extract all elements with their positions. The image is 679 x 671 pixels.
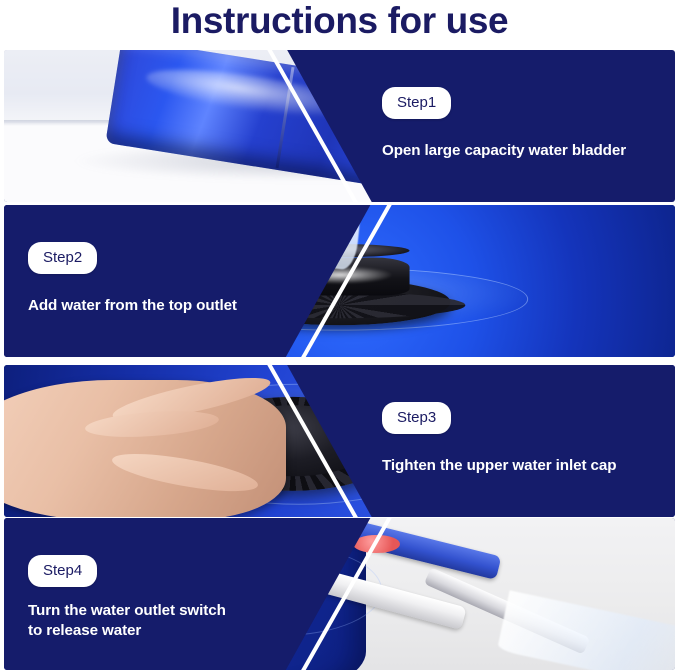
- step4-text-block: Step4 Turn the water outlet switch to re…: [28, 518, 318, 670]
- step3-caption: Tighten the upper water inlet cap: [382, 456, 616, 476]
- step2-text-block: Step2 Add water from the top outlet: [28, 205, 318, 357]
- instructions-infographic: Instructions for use Step1 Open large ca…: [0, 0, 679, 671]
- step1-text-block: Step1 Open large capacity water bladder: [382, 50, 662, 202]
- step-row-4: Step4 Turn the water outlet switch to re…: [4, 518, 675, 670]
- step3-text-block: Step3 Tighten the upper water inlet cap: [382, 365, 662, 517]
- step4-caption-line2: to release water: [28, 621, 226, 641]
- step-row-1: Step1 Open large capacity water bladder: [4, 50, 675, 202]
- step2-badge: Step2: [28, 242, 97, 274]
- step-row-3: Step3 Tighten the upper water inlet cap: [4, 365, 675, 517]
- step4-badge: Step4: [28, 555, 97, 587]
- step2-caption: Add water from the top outlet: [28, 296, 237, 316]
- step3-badge: Step3: [382, 402, 451, 434]
- page-title: Instructions for use: [0, 0, 679, 44]
- step1-badge: Step1: [382, 87, 451, 119]
- step4-caption-line1: Turn the water outlet switch: [28, 601, 226, 621]
- step1-caption: Open large capacity water bladder: [382, 141, 626, 161]
- water-jet: [497, 591, 675, 670]
- step4-caption: Turn the water outlet switch to release …: [28, 601, 226, 641]
- step-row-2: Step2 Add water from the top outlet: [4, 205, 675, 357]
